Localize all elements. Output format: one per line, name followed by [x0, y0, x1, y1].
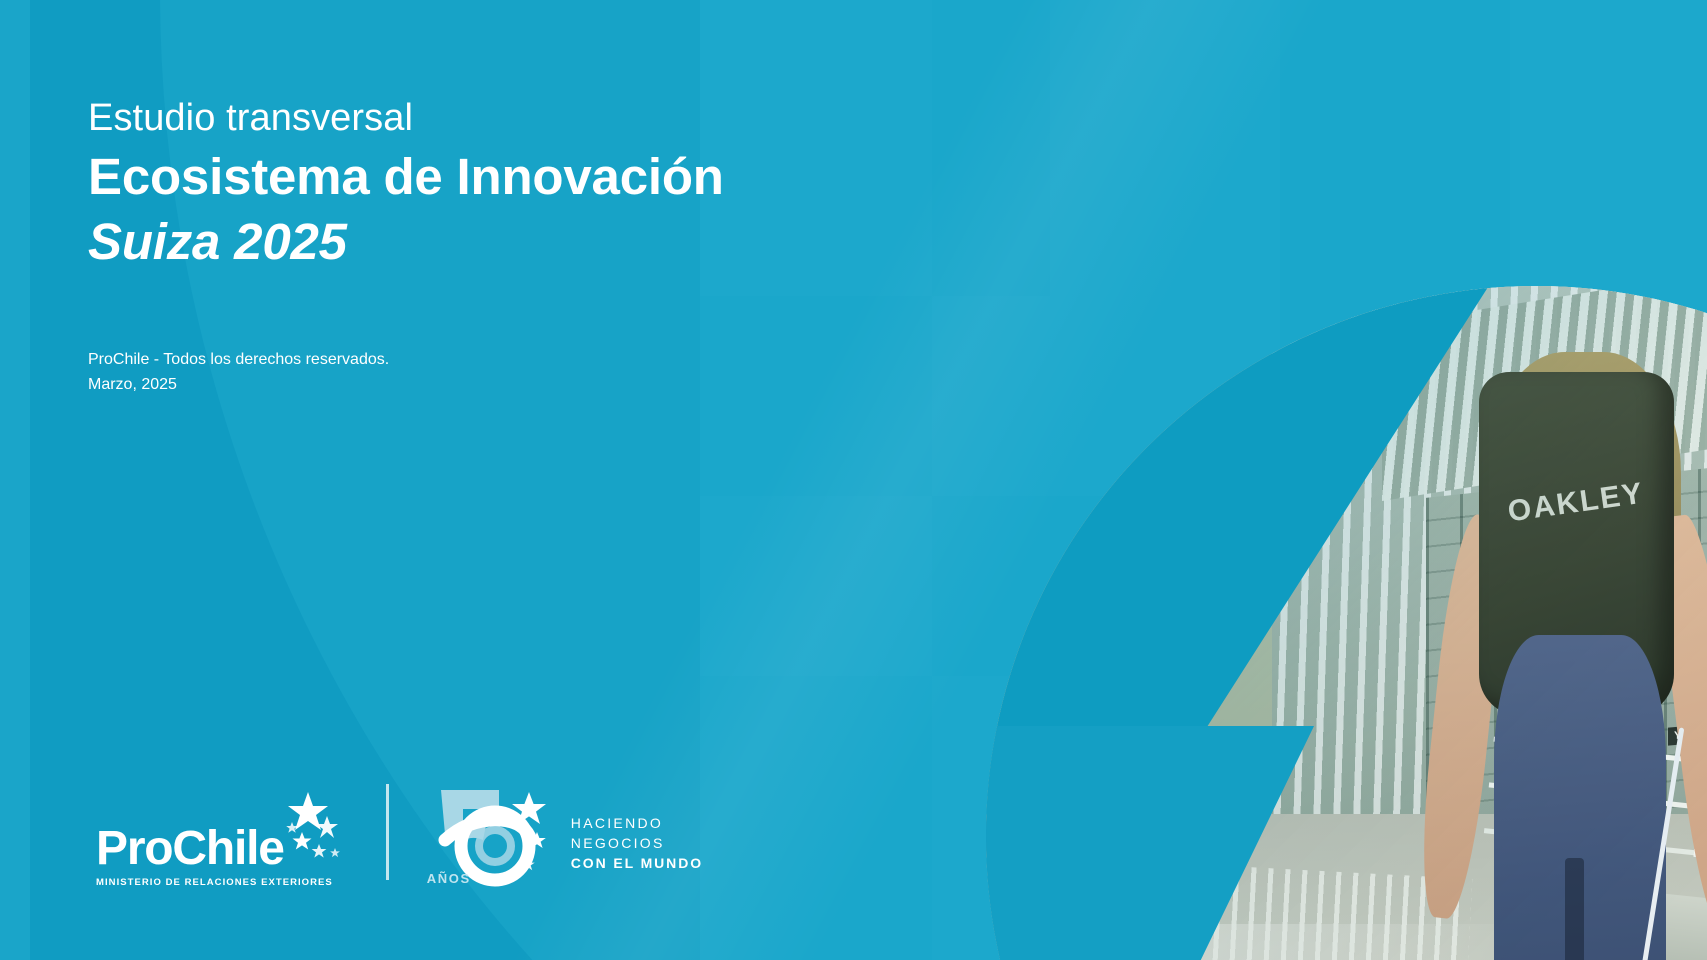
headline-block: Estudio transversal Ecosistema de Innova… — [88, 96, 968, 271]
hero-photo-circle: YDA YDA YDA OAKLEY — [986, 286, 1707, 960]
left-edge-stripe — [0, 0, 30, 960]
tagline-line-1: HACIENDO — [571, 814, 703, 834]
logo-divider — [386, 784, 389, 880]
title-slide: YDA YDA YDA OAKLEY — [0, 0, 1707, 960]
page-title-emphasis: Suiza 2025 — [88, 212, 968, 271]
anniversary-logo: AÑOS HACIENDO NEGOCIOS CON EL MUNDO — [415, 778, 703, 888]
prochile-logo: ProChile MINISTERIO DE RELACION — [96, 786, 360, 888]
tagline-line-2: NEGOCIOS — [571, 834, 703, 854]
ministry-label: MINISTERIO DE RELACIONES EXTERIORES — [96, 877, 350, 888]
tagline-line-3: CON EL MUNDO — [571, 854, 703, 874]
logo-lockup: ProChile MINISTERIO DE RELACION — [96, 768, 703, 888]
tagline-block: HACIENDO NEGOCIOS CON EL MUNDO — [571, 814, 703, 874]
stars-icon — [278, 786, 350, 872]
date-line: Marzo, 2025 — [88, 373, 389, 398]
eyebrow-text: Estudio transversal — [88, 96, 968, 141]
anniversary-years-label: AÑOS — [427, 871, 471, 886]
page-title: Ecosistema de Innovación — [88, 147, 968, 206]
hero-photo: YDA YDA YDA OAKLEY — [986, 286, 1707, 960]
metadata-block: ProChile - Todos los derechos reservados… — [88, 348, 389, 398]
prochile-wordmark: ProChile — [96, 826, 284, 872]
copyright-line: ProChile - Todos los derechos reservados… — [88, 348, 389, 373]
